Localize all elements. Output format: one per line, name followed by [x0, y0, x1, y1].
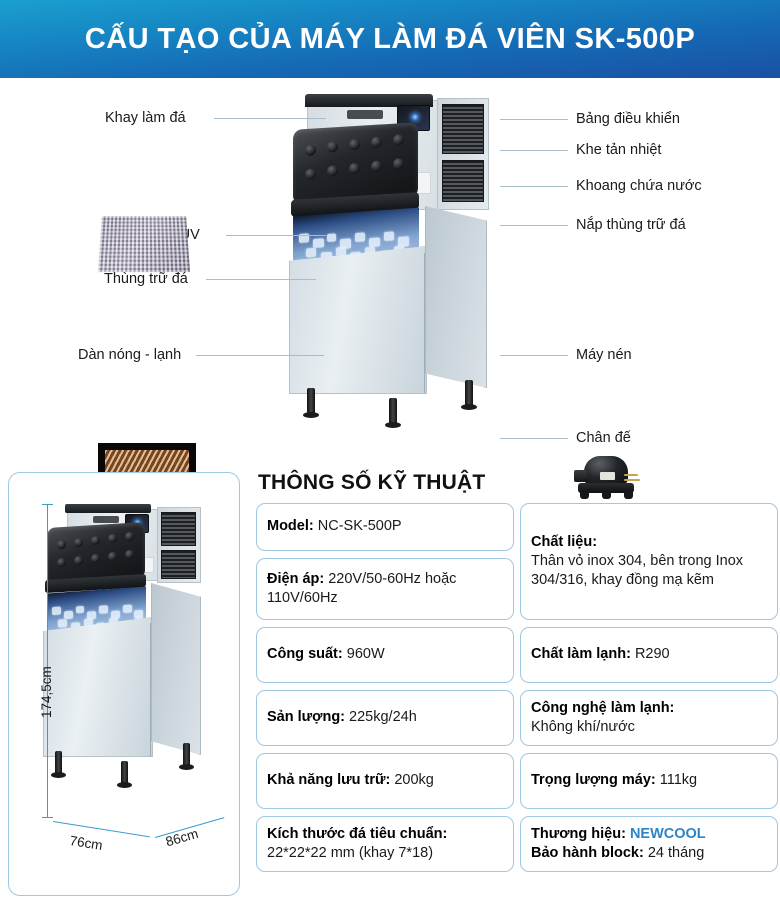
spec-value-model: NC-SK-500P: [318, 518, 402, 534]
spec-label-storage: Khả năng lưu trữ:: [267, 772, 390, 788]
spec-row-storage: Khả năng lưu trữ: 200kg: [256, 753, 514, 809]
product-photo-dimensions: [37, 495, 222, 815]
heat-vent-upper: [442, 104, 484, 154]
machine-leg-front-left: [307, 388, 315, 414]
leader-line-base-foot: [500, 438, 568, 439]
spec-label-cooling-tech: Công nghệ làm lạnh:: [531, 700, 674, 716]
machine-side-panel: [425, 206, 487, 388]
bottom-section: 174,5cm 76cm 86cm THÔNG SỐ KỸ THUẬT Mode…: [0, 463, 780, 908]
spec-row-weight: Trọng lượng máy: 111kg: [520, 753, 778, 809]
spec-label-voltage: Điện áp:: [267, 571, 324, 587]
spec-row-model: Model: NC-SK-500P: [256, 503, 514, 551]
label-bin-lid: Nắp thùng trữ đá: [576, 217, 686, 233]
leader-line-compressor: [500, 355, 568, 356]
spec-row-power: Công suất: 960W: [256, 627, 514, 683]
label-compressor: Máy nén: [576, 347, 632, 363]
machine-leg-front-right: [389, 398, 397, 424]
dimension-diagram-box: 174,5cm 76cm 86cm: [8, 472, 240, 896]
spec-label-refrigerant: Chất làm lạnh:: [531, 646, 631, 662]
spec-label-material: Chất liệu:: [531, 534, 597, 550]
leader-line-ice-storage-bin: [206, 279, 316, 280]
machine-leg-rear-right: [465, 380, 473, 406]
spec-value-power: 960W: [347, 646, 385, 662]
machine-storage-body: [289, 246, 427, 394]
spec-value-cooling-tech: Không khí/nước: [531, 719, 635, 735]
spec-value-output: 225kg/24h: [349, 709, 417, 725]
spec-row-brand-warranty: Thương hiệu: NEWCOOL Bảo hành block: 24 …: [520, 816, 778, 872]
specs-heading: THÔNG SỐ KỸ THUẬT: [258, 471, 485, 495]
machine-body-seam: [424, 253, 425, 393]
dimension-line-height: [47, 504, 48, 817]
spec-row-cube-size: Kích thước đá tiêu chuẩn: 22*22*22 mm (k…: [256, 816, 514, 872]
specs-column-right: Chất liệu: Thân vỏ inox 304, bên trong I…: [520, 503, 778, 879]
spec-label-brand: Thương hiệu:: [531, 826, 626, 842]
spec-value-storage: 200kg: [394, 772, 434, 788]
dimension-label-height: 174,5cm: [39, 666, 54, 718]
label-control-panel: Bảng điều khiển: [576, 111, 680, 127]
leader-line-control-panel: [500, 119, 568, 120]
spec-label-warranty: Bảo hành block:: [531, 845, 644, 861]
spec-value-brand: NEWCOOL: [630, 826, 706, 842]
spec-value-refrigerant: R290: [635, 646, 670, 662]
spec-value-cube-size: 22*22*22 mm (khay 7*18): [267, 845, 433, 861]
spec-label-weight: Trọng lượng máy:: [531, 772, 656, 788]
dimension-label-depth: 86cm: [164, 826, 200, 850]
specs-column-left: Model: NC-SK-500P Điện áp: 220V/50-60Hz …: [256, 503, 514, 879]
ice-tray-photo: [98, 216, 190, 272]
dimension-line-width: [53, 821, 150, 837]
label-water-chamber: Khoang chứa nước: [576, 178, 702, 194]
spec-row-output: Sản lượng: 225kg/24h: [256, 690, 514, 746]
page-title: CẤU TẠO CỦA MÁY LÀM ĐÁ VIÊN SK-500P: [85, 23, 695, 56]
spec-row-voltage: Điện áp: 220V/50-60Hz hoặc 110V/60Hz: [256, 558, 514, 620]
spec-value-material: Thân vỏ inox 304, bên trong Inox 304/316…: [531, 553, 743, 588]
heat-vent-lower: [442, 160, 484, 202]
label-base-foot: Chân đế: [576, 430, 631, 446]
leader-line-water-chamber: [500, 186, 568, 187]
spec-label-cube-size: Kích thước đá tiêu chuẩn:: [267, 826, 447, 842]
label-ice-tray: Khay làm đá: [105, 110, 186, 126]
specifications-section: THÔNG SỐ KỸ THUẬT Model: NC-SK-500P Điện…: [252, 463, 772, 908]
label-hot-cold-coil: Dàn nóng - lạnh: [78, 347, 181, 363]
spec-value-warranty: 24 tháng: [648, 845, 704, 861]
spec-label-model: Model:: [267, 518, 314, 534]
leader-line-ice-tray: [214, 118, 326, 119]
spec-label-output: Sản lượng:: [267, 709, 345, 725]
product-photo-main: [285, 88, 515, 448]
spec-row-cooling-tech: Công nghệ làm lạnh: Không khí/nước: [520, 690, 778, 746]
spec-label-power: Công suất:: [267, 646, 343, 662]
leader-line-hot-cold-coil: [196, 355, 324, 356]
leader-line-uv-lamp: [226, 235, 326, 236]
spec-row-material: Chất liệu: Thân vỏ inox 304, bên trong I…: [520, 503, 778, 620]
label-heat-vent: Khe tản nhiệt: [576, 142, 661, 158]
product-diagram: Khay làm đá Đèn UV Thùng trữ đá Dàn nóng…: [0, 78, 780, 463]
leader-line-heat-vent: [500, 150, 568, 151]
brand-logo-plate: [347, 110, 383, 119]
label-ice-storage-bin: Thùng trữ đá: [104, 271, 188, 287]
panel-led-icon: [411, 113, 419, 121]
spec-value-weight: 111kg: [660, 772, 697, 788]
leader-line-bin-lid: [500, 225, 568, 226]
spec-row-refrigerant: Chất làm lạnh: R290: [520, 627, 778, 683]
dimension-label-width: 76cm: [69, 833, 104, 853]
page-header: CẤU TẠO CỦA MÁY LÀM ĐÁ VIÊN SK-500P: [0, 0, 780, 78]
